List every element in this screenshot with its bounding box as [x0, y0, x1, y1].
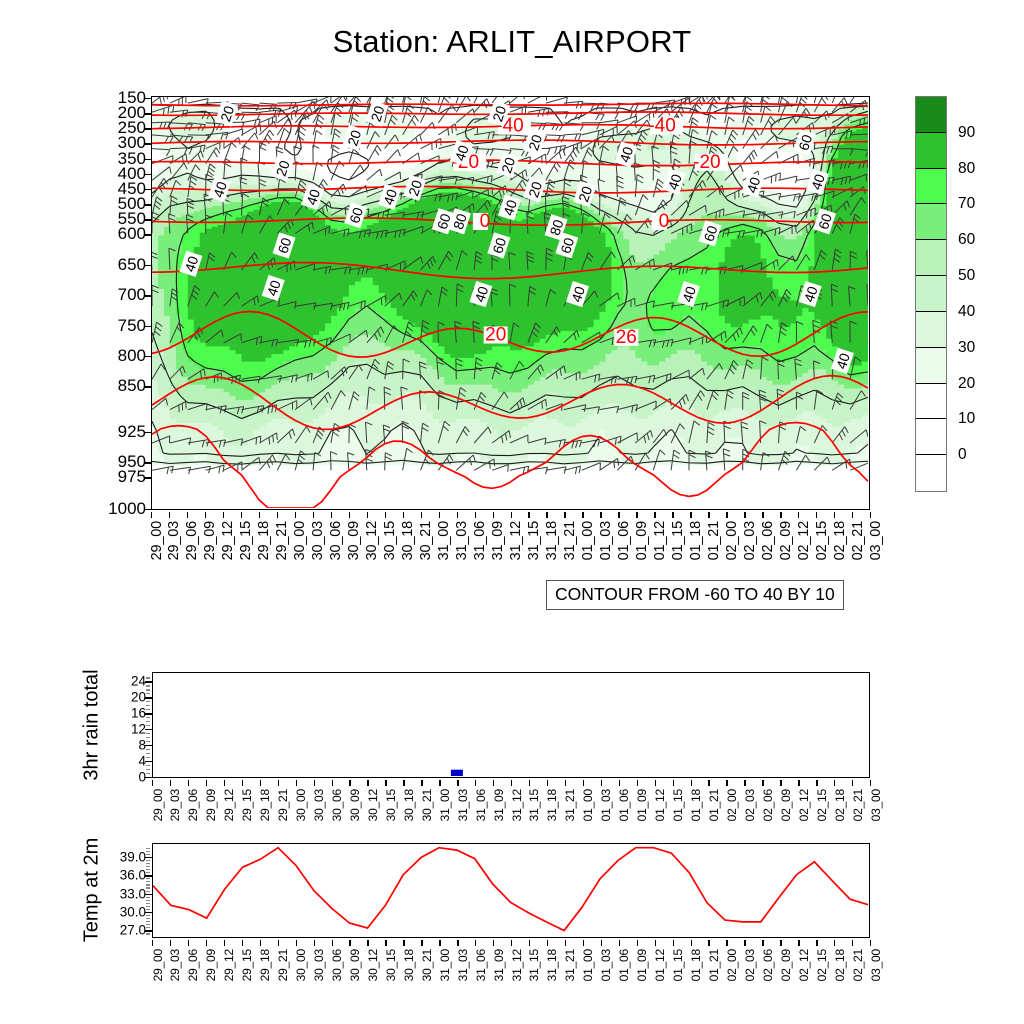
- rain-tick-label: 24: [131, 674, 146, 689]
- x-tick-label: 29_03: [166, 521, 182, 560]
- main-panel-xaxis: 29_0029_0329_0629_0929_1229_1529_1829_21…: [151, 512, 870, 574]
- x-tick-label: 01_15: [670, 521, 686, 560]
- x-tick-mark: [780, 512, 781, 518]
- pressure-tick-label: 650: [118, 255, 146, 275]
- x-tick-mark: [188, 940, 189, 946]
- x-tick-label: 01_03: [599, 789, 613, 821]
- x-tick-mark: [546, 512, 547, 518]
- temp-minor-tick: [146, 933, 150, 934]
- x-tick-mark: [726, 780, 727, 786]
- x-tick-label: 02_06: [760, 521, 776, 560]
- x-tick-label: 02_12: [796, 521, 812, 560]
- rain-panel-xaxis: 29_0029_0329_0629_0929_1229_1529_1829_21…: [152, 780, 870, 842]
- x-tick-mark: [528, 512, 529, 518]
- x-tick-label: 29_00: [151, 789, 165, 821]
- x-tick-mark: [798, 940, 799, 946]
- x-tick-label: 31_12: [508, 521, 524, 560]
- x-tick-mark: [762, 940, 763, 946]
- x-tick-label: 03_00: [869, 789, 883, 821]
- rain-minor-tick: [146, 769, 150, 770]
- temp-minor-tick: [146, 903, 150, 904]
- x-tick-mark: [600, 512, 601, 518]
- rain-minor-tick: [146, 721, 150, 722]
- rain-minor-tick: [146, 757, 150, 758]
- colorbar-band: [916, 455, 946, 491]
- x-tick-label: 02_12: [797, 949, 811, 981]
- x-tick-label: 30_00: [292, 521, 308, 560]
- rain-minor-tick: [146, 753, 150, 754]
- pressure-tick-mark: [144, 189, 151, 190]
- x-tick-label: 29_18: [258, 789, 272, 821]
- x-tick-label: 30_09: [346, 521, 362, 560]
- x-tick-mark: [152, 940, 153, 946]
- rain-tick-mark: [145, 697, 152, 698]
- x-tick-mark: [349, 780, 350, 786]
- x-tick-mark: [475, 512, 476, 518]
- x-tick-mark: [852, 780, 853, 786]
- x-tick-mark: [726, 940, 727, 946]
- x-tick-label: 02_18: [833, 949, 847, 981]
- x-tick-label: 30_18: [402, 949, 416, 981]
- rain-tick-mark: [145, 713, 152, 714]
- temp-minor-tick: [146, 878, 150, 879]
- rain-minor-tick: [146, 741, 150, 742]
- x-tick-mark: [708, 780, 709, 786]
- x-tick-mark: [314, 780, 315, 786]
- x-tick-mark: [655, 780, 656, 786]
- x-tick-mark: [475, 780, 476, 786]
- pressure-tick-mark: [144, 204, 151, 205]
- x-tick-label: 30_09: [348, 949, 362, 981]
- colorbar-tick-label: 80: [958, 160, 975, 178]
- x-tick-mark: [618, 512, 619, 518]
- x-tick-mark: [241, 512, 242, 518]
- x-tick-mark: [744, 940, 745, 946]
- x-tick-mark: [565, 940, 566, 946]
- x-tick-label: 30_06: [330, 789, 344, 821]
- x-tick-label: 30_03: [312, 949, 326, 981]
- pressure-tick-mark: [144, 174, 151, 175]
- rain-plot: [153, 673, 868, 776]
- rain-tick-label: 12: [131, 721, 146, 736]
- temp-tick-marks: [145, 843, 152, 938]
- page-title: Station: ARLIT_AIRPORT: [0, 24, 1024, 60]
- x-tick-mark: [691, 780, 692, 786]
- x-tick-mark: [314, 940, 315, 946]
- x-tick-label: 31_15: [527, 789, 541, 821]
- x-tick-label: 31_06: [474, 789, 488, 821]
- x-tick-label: 02_09: [779, 789, 793, 821]
- x-tick-label: 29_09: [204, 949, 218, 981]
- colorbar-band: [916, 240, 946, 276]
- x-tick-label: 29_15: [238, 521, 254, 560]
- x-tick-mark: [242, 940, 243, 946]
- rain-tick-label: 16: [131, 706, 146, 721]
- x-tick-label: 01_18: [689, 949, 703, 981]
- x-tick-mark: [637, 940, 638, 946]
- x-tick-label: 02_06: [761, 789, 775, 821]
- x-tick-mark: [583, 940, 584, 946]
- temp-tick-mark: [145, 912, 152, 913]
- x-tick-mark: [511, 780, 512, 786]
- x-tick-label: 31_03: [456, 949, 470, 981]
- temp-minor-tick: [146, 884, 150, 885]
- rain-panel: [152, 672, 870, 778]
- x-tick-label: 29_00: [151, 949, 165, 981]
- x-tick-label: 02_03: [743, 789, 757, 821]
- x-tick-mark: [870, 940, 871, 946]
- x-tick-label: 31_15: [527, 949, 541, 981]
- x-tick-mark: [151, 512, 152, 518]
- temp-minor-tick: [146, 860, 150, 861]
- x-tick-mark: [332, 780, 333, 786]
- colorbar-band: [916, 384, 946, 420]
- x-tick-mark: [170, 780, 171, 786]
- x-tick-mark: [870, 512, 871, 518]
- x-tick-label: 31_09: [492, 789, 506, 821]
- x-tick-label: 02_03: [742, 521, 758, 560]
- rain-minor-tick: [146, 701, 150, 702]
- colorbar-band: [916, 419, 946, 455]
- pressure-tick-mark: [144, 128, 151, 129]
- pressure-tick-label: 600: [118, 224, 146, 244]
- temp-minor-tick: [146, 872, 150, 873]
- x-tick-mark: [224, 940, 225, 946]
- x-tick-mark: [654, 512, 655, 518]
- x-tick-label: 02_21: [850, 521, 866, 560]
- rain-minor-tick: [146, 693, 150, 694]
- x-tick-label: 30_21: [420, 949, 434, 981]
- x-tick-mark: [439, 940, 440, 946]
- colorbar-tick-label: 20: [958, 375, 975, 393]
- x-tick-mark: [223, 512, 224, 518]
- x-tick-label: 01_06: [616, 521, 632, 560]
- x-tick-label: 31_06: [472, 521, 488, 560]
- x-tick-mark: [655, 940, 656, 946]
- humidity-colorbar: [915, 96, 947, 492]
- rain-tick-mark: [145, 777, 152, 778]
- x-tick-mark: [672, 512, 673, 518]
- colorbar-band: [916, 133, 946, 169]
- x-tick-label: 29_00: [149, 521, 165, 560]
- x-tick-label: 29_18: [258, 949, 272, 981]
- x-tick-mark: [367, 940, 368, 946]
- x-tick-label: 01_03: [598, 521, 614, 560]
- x-tick-mark: [762, 780, 763, 786]
- colorbar-band: [916, 348, 946, 384]
- colorbar-band: [916, 204, 946, 240]
- x-tick-mark: [564, 512, 565, 518]
- x-tick-mark: [726, 512, 727, 518]
- x-tick-label: 01_00: [580, 521, 596, 560]
- temp-tick-mark: [145, 894, 152, 895]
- x-tick-label: 02_12: [797, 789, 811, 821]
- x-tick-mark: [529, 940, 530, 946]
- rain-minor-tick: [146, 737, 150, 738]
- temp-tick-label: 39.0: [120, 849, 146, 864]
- x-tick-label: 31_06: [474, 949, 488, 981]
- x-tick-mark: [188, 780, 189, 786]
- temp-minor-tick: [146, 921, 150, 922]
- rain-minor-tick: [146, 685, 150, 686]
- x-tick-label: 31_21: [563, 789, 577, 821]
- x-tick-label: 01_21: [706, 521, 722, 560]
- contour-caption: CONTOUR FROM -60 TO 40 BY 10: [546, 580, 844, 610]
- temp-minor-tick: [146, 869, 150, 870]
- x-tick-mark: [870, 780, 871, 786]
- temp-minor-tick: [146, 891, 150, 892]
- x-tick-mark: [403, 512, 404, 518]
- x-tick-label: 30_15: [382, 521, 398, 560]
- x-tick-label: 30_18: [400, 521, 416, 560]
- x-tick-mark: [565, 780, 566, 786]
- x-tick-mark: [493, 940, 494, 946]
- sounding-plot: -40-40-20-200020262020202020202020202040…: [152, 97, 868, 508]
- pressure-tick-mark: [144, 219, 151, 220]
- colorbar-tick-label: 10: [958, 410, 975, 428]
- x-tick-label: 02_21: [851, 949, 865, 981]
- x-tick-label: 31_18: [545, 949, 559, 981]
- x-tick-mark: [260, 940, 261, 946]
- x-tick-mark: [744, 512, 745, 518]
- pressure-tick-mark: [144, 265, 151, 266]
- rain-tick-labels: 24201612840: [108, 672, 146, 778]
- x-tick-mark: [206, 940, 207, 946]
- x-tick-label: 30_00: [294, 949, 308, 981]
- pressure-tick-mark: [144, 432, 151, 433]
- x-tick-label: 29_21: [276, 789, 290, 821]
- x-tick-label: 01_09: [635, 949, 649, 981]
- temp-tick-label: 30.0: [120, 904, 146, 919]
- temp-minor-tick: [146, 848, 150, 849]
- x-tick-mark: [457, 940, 458, 946]
- temp-minor-tick: [146, 918, 150, 919]
- x-tick-label: 29_21: [274, 521, 290, 560]
- x-tick-mark: [205, 512, 206, 518]
- rain-tick-marks: [145, 672, 152, 778]
- x-tick-label: 31_12: [510, 789, 524, 821]
- x-tick-label: 01_06: [617, 789, 631, 821]
- temp-minor-tick: [146, 887, 150, 888]
- pressure-tick-mark: [144, 477, 151, 478]
- x-tick-label: 31_12: [510, 949, 524, 981]
- colorbar-tick-label: 50: [958, 267, 975, 285]
- x-tick-mark: [511, 512, 512, 518]
- x-tick-mark: [385, 512, 386, 518]
- x-tick-mark: [637, 780, 638, 786]
- x-tick-mark: [511, 940, 512, 946]
- temp-tick-label: 36.0: [120, 868, 146, 883]
- temp-minor-tick: [146, 915, 150, 916]
- x-tick-mark: [816, 780, 817, 786]
- x-tick-label: 31_09: [492, 949, 506, 981]
- rain-tick-mark: [145, 745, 152, 746]
- pressure-tick-label: 850: [118, 376, 146, 396]
- x-tick-label: 02_06: [761, 949, 775, 981]
- x-tick-mark: [349, 512, 350, 518]
- x-tick-mark: [816, 512, 817, 518]
- temp-minor-tick: [146, 924, 150, 925]
- x-tick-mark: [224, 780, 225, 786]
- pressure-tick-label: 975: [118, 467, 146, 487]
- x-tick-label: 01_21: [707, 789, 721, 821]
- x-tick-label: 30_06: [330, 949, 344, 981]
- x-tick-label: 30_18: [402, 789, 416, 821]
- x-tick-mark: [708, 512, 709, 518]
- x-tick-mark: [332, 940, 333, 946]
- rain-minor-tick: [146, 705, 150, 706]
- x-tick-label: 02_00: [725, 789, 739, 821]
- x-tick-mark: [439, 780, 440, 786]
- pressure-tick-label: 925: [118, 422, 146, 442]
- x-tick-label: 29_09: [202, 521, 218, 560]
- x-tick-mark: [834, 512, 835, 518]
- x-tick-label: 01_12: [653, 949, 667, 981]
- x-tick-mark: [187, 512, 188, 518]
- x-tick-label: 02_00: [725, 949, 739, 981]
- colorbar-tick-label: 40: [958, 303, 975, 321]
- rain-minor-tick: [146, 725, 150, 726]
- x-tick-label: 29_06: [186, 949, 200, 981]
- x-tick-mark: [583, 780, 584, 786]
- x-tick-mark: [780, 940, 781, 946]
- x-tick-mark: [295, 512, 296, 518]
- x-tick-mark: [457, 780, 458, 786]
- rain-minor-tick: [146, 717, 150, 718]
- x-tick-label: 30_15: [384, 789, 398, 821]
- x-tick-label: 02_15: [814, 521, 830, 560]
- x-tick-label: 01_09: [634, 521, 650, 560]
- temp-panel: [152, 843, 870, 938]
- x-tick-mark: [601, 780, 602, 786]
- temp-tick-mark: [145, 930, 152, 931]
- x-tick-mark: [367, 780, 368, 786]
- pressure-tick-marks: [144, 96, 151, 510]
- pressure-tick-label: 800: [118, 346, 146, 366]
- colorbar-tick-label: 30: [958, 339, 975, 357]
- x-tick-mark: [259, 512, 260, 518]
- temp-minor-tick: [146, 906, 150, 907]
- x-tick-label: 02_15: [815, 949, 829, 981]
- temp-tick-label: 27.0: [120, 923, 146, 938]
- x-tick-mark: [636, 512, 637, 518]
- temp-panel-xaxis: 29_0029_0329_0629_0929_1229_1529_1829_21…: [152, 940, 870, 1002]
- pressure-tick-mark: [144, 113, 151, 114]
- rain-tick-mark: [145, 761, 152, 762]
- colorbar-tick-label: 60: [958, 231, 975, 249]
- x-tick-mark: [601, 940, 602, 946]
- x-tick-label: 03_00: [869, 949, 883, 981]
- pressure-tick-label: 700: [118, 285, 146, 305]
- x-tick-mark: [421, 780, 422, 786]
- rain-minor-tick: [146, 749, 150, 750]
- x-tick-label: 29_18: [256, 521, 272, 560]
- x-tick-label: 29_12: [222, 789, 236, 821]
- x-tick-label: 30_21: [420, 789, 434, 821]
- x-tick-label: 02_21: [851, 789, 865, 821]
- temp-minor-tick: [146, 866, 150, 867]
- x-tick-label: 30_09: [348, 789, 362, 821]
- x-tick-label: 31_00: [438, 949, 452, 981]
- x-tick-mark: [673, 940, 674, 946]
- x-tick-mark: [278, 780, 279, 786]
- pressure-tick-mark: [144, 159, 151, 160]
- x-tick-mark: [493, 512, 494, 518]
- x-tick-label: 30_12: [364, 521, 380, 560]
- x-tick-label: 31_18: [545, 789, 559, 821]
- temp-minor-tick: [146, 897, 150, 898]
- temp-tick-labels: 39.036.033.030.027.0: [100, 843, 146, 938]
- x-tick-label: 29_06: [186, 789, 200, 821]
- x-tick-mark: [242, 780, 243, 786]
- x-tick-label: 02_03: [743, 949, 757, 981]
- temp-minor-tick: [146, 881, 150, 882]
- x-tick-mark: [673, 780, 674, 786]
- temp-plot: [153, 844, 868, 936]
- colorbar-tick-label: 90: [958, 124, 975, 142]
- weather-sounding-figure: Station: ARLIT_AIRPORT -40-40-20-2000202…: [0, 0, 1024, 1024]
- rain-minor-tick: [146, 765, 150, 766]
- x-tick-mark: [691, 940, 692, 946]
- temp-minor-tick: [146, 900, 150, 901]
- rain-axis-label: 3hr rain total: [81, 669, 104, 780]
- x-tick-label: 02_09: [779, 949, 793, 981]
- x-tick-label: 01_03: [599, 949, 613, 981]
- x-tick-label: 31_21: [562, 521, 578, 560]
- x-tick-mark: [798, 780, 799, 786]
- x-tick-label: 30_15: [384, 949, 398, 981]
- x-tick-mark: [260, 780, 261, 786]
- temp-minor-tick: [146, 851, 150, 852]
- pressure-tick-mark: [144, 234, 151, 235]
- colorbar-tick-label: 0: [958, 446, 967, 464]
- x-tick-label: 02_15: [815, 789, 829, 821]
- temp-minor-tick: [146, 909, 150, 910]
- x-tick-label: 01_12: [653, 789, 667, 821]
- temp-minor-tick: [146, 854, 150, 855]
- x-tick-mark: [457, 512, 458, 518]
- x-tick-label: 30_06: [328, 521, 344, 560]
- pressure-tick-labels: 1502002503003504004505005506006507007508…: [60, 96, 146, 510]
- x-tick-label: 01_18: [688, 521, 704, 560]
- x-tick-label: 01_00: [581, 949, 595, 981]
- x-tick-label: 01_18: [689, 789, 703, 821]
- temp-tick-mark: [145, 875, 152, 876]
- x-tick-label: 01_15: [671, 789, 685, 821]
- x-tick-mark: [170, 940, 171, 946]
- x-tick-mark: [278, 940, 279, 946]
- x-tick-mark: [385, 780, 386, 786]
- x-tick-mark: [439, 512, 440, 518]
- x-tick-mark: [529, 780, 530, 786]
- pressure-tick-mark: [144, 509, 151, 510]
- rain-tick-mark: [145, 681, 152, 682]
- x-tick-mark: [493, 780, 494, 786]
- x-tick-mark: [798, 512, 799, 518]
- pressure-tick-mark: [144, 386, 151, 387]
- x-tick-mark: [385, 940, 386, 946]
- rain-minor-tick: [146, 709, 150, 710]
- x-tick-mark: [152, 780, 153, 786]
- pressure-tick-label: 750: [118, 316, 146, 336]
- x-tick-label: 29_12: [220, 521, 236, 560]
- x-tick-mark: [619, 780, 620, 786]
- x-tick-label: 31_21: [563, 949, 577, 981]
- x-tick-mark: [277, 512, 278, 518]
- x-tick-label: 31_03: [454, 521, 470, 560]
- temp-minor-tick: [146, 863, 150, 864]
- x-tick-mark: [331, 512, 332, 518]
